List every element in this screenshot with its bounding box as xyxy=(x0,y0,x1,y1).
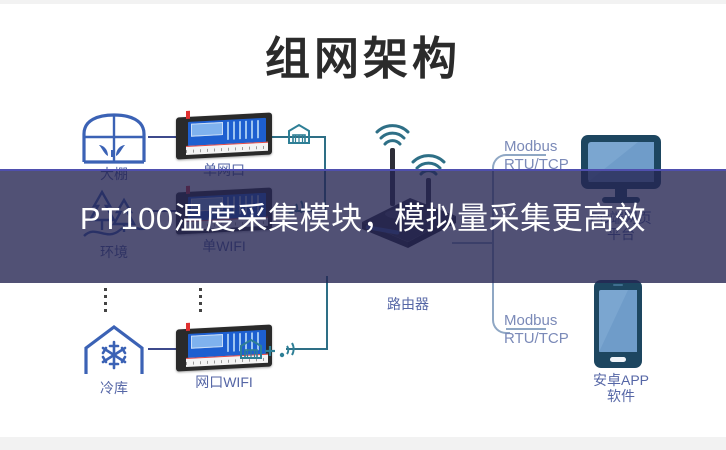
link-row3-vertical xyxy=(326,276,328,350)
bottom-edge-strip xyxy=(0,437,726,450)
ellipsis-dots-left xyxy=(104,288,108,316)
label-app-line1: 安卓APP xyxy=(593,372,649,388)
label-module-lan-wifi: 网口WIFI xyxy=(158,374,290,390)
protocol-top-line1: Modbus xyxy=(504,138,557,155)
screenshot-canvas: 组网架构 xyxy=(0,0,726,450)
label-android-app: 安卓APP 软件 xyxy=(562,372,680,404)
smartphone-icon xyxy=(592,278,644,370)
headline-banner-overlay: PT100温度采集模块，模拟量采集更高效 xyxy=(0,169,726,283)
label-router: 路由器 xyxy=(348,296,468,312)
module-lan-device xyxy=(176,112,272,159)
headline-text: PT100温度采集模块，模拟量采集更高效 xyxy=(0,198,726,240)
link-greenhouse-to-module xyxy=(148,136,176,138)
rj45-plus-wifi-icon xyxy=(238,335,310,361)
greenhouse-icon xyxy=(78,112,150,164)
label-app-line2: 软件 xyxy=(607,388,635,404)
protocol-bottom-line2: RTU/TCP xyxy=(504,330,569,347)
ellipsis-dots-right xyxy=(199,288,203,316)
module-led xyxy=(186,111,190,119)
label-coldstorage: 冷库 xyxy=(78,380,150,396)
protocol-bottom-line1: Modbus xyxy=(504,312,557,329)
rj45-icon xyxy=(286,122,312,146)
top-edge-strip xyxy=(0,0,726,4)
module-led xyxy=(186,323,190,331)
page-title: 组网架构 xyxy=(0,32,726,86)
snowflake-house-icon xyxy=(78,322,150,378)
